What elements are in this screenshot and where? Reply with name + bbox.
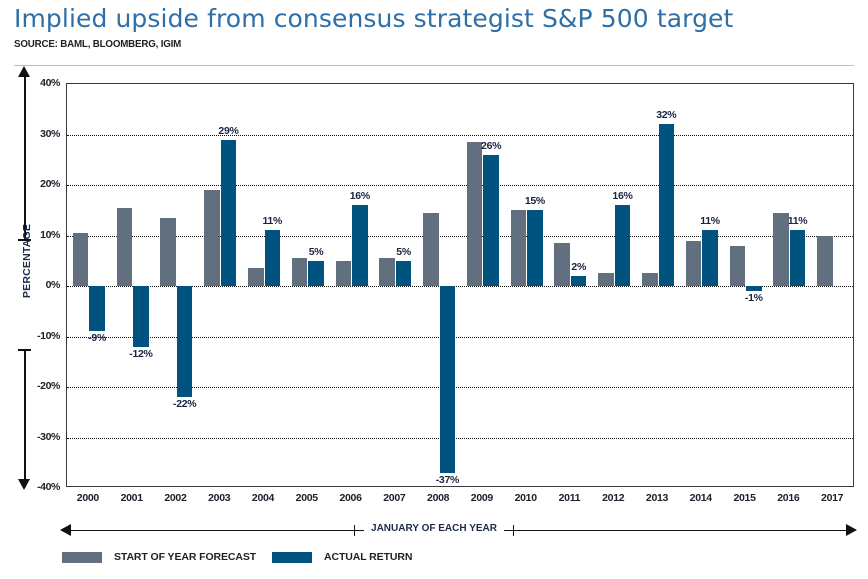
bar-value-label: 26%: [481, 140, 501, 152]
actual-bar: [615, 205, 631, 286]
legend-swatch-forecast: [62, 552, 102, 563]
x-axis-tick-label: 2006: [339, 492, 361, 504]
source-note: SOURCE: BAML, BLOOMBERG, IGIM: [14, 38, 795, 50]
chart-page: Implied upside from consensus strategist…: [0, 0, 868, 579]
x-axis-tick-labels: 2000200120022003200420052006200720082009…: [0, 492, 868, 512]
y-axis-tick-label: 30%: [14, 128, 60, 140]
forecast-bar: [467, 142, 483, 286]
x-axis-tick-label: 2017: [821, 492, 843, 504]
bar-value-label: -22%: [173, 398, 196, 410]
forecast-bar: [248, 268, 264, 286]
legend-item[interactable]: START OF YEAR FORECAST: [62, 551, 256, 563]
actual-bar: [440, 286, 456, 473]
bar-value-label: 5%: [396, 246, 411, 258]
forecast-bar: [730, 246, 746, 286]
forecast-bar: [379, 258, 395, 286]
bar-value-label: 11%: [700, 215, 720, 227]
actual-bar: [352, 205, 368, 286]
legend-label: ACTUAL RETURN: [324, 551, 412, 563]
x-axis-tick-label: 2002: [164, 492, 186, 504]
x-axis-tick-label: 2013: [646, 492, 668, 504]
y-axis-tick-label: -20%: [14, 380, 60, 392]
actual-bar: [702, 230, 718, 286]
bars-layer: -9%-12%-22%29%11%5%16%5%-37%26%15%2%16%3…: [67, 84, 853, 486]
x-axis-tick-label: 2010: [515, 492, 537, 504]
forecast-bar: [423, 213, 439, 286]
x-axis-tick-label: 2011: [559, 492, 581, 504]
forecast-bar: [554, 243, 570, 286]
actual-bar: [89, 286, 105, 331]
y-axis-tick-label: 40%: [14, 77, 60, 89]
x-axis-tick-label: 2001: [121, 492, 143, 504]
x-axis-tick-label: 2016: [777, 492, 799, 504]
actual-bar: [221, 140, 237, 286]
actual-bar: [571, 276, 587, 286]
x-axis-cap-left: [354, 525, 355, 536]
x-axis-tick-label: 2003: [208, 492, 230, 504]
actual-bar: [746, 286, 762, 291]
x-axis-tick-label: 2005: [296, 492, 318, 504]
x-axis-tick-label: 2000: [77, 492, 99, 504]
bar-value-label: -12%: [129, 348, 152, 360]
bar-value-label: -1%: [745, 292, 763, 304]
x-axis-tick-label: 2014: [690, 492, 712, 504]
y-axis-tick-label: 20%: [14, 178, 60, 190]
forecast-bar: [73, 233, 89, 286]
bar-value-label: 16%: [612, 190, 632, 202]
bar-value-label: 15%: [525, 195, 545, 207]
x-axis-title: JANUARY OF EACH YEAR: [364, 523, 504, 534]
x-axis-tick-label: 2009: [471, 492, 493, 504]
forecast-bar: [598, 273, 614, 286]
forecast-bar: [773, 213, 789, 286]
actual-bar: [265, 230, 281, 286]
forecast-bar: [642, 273, 658, 286]
bar-value-label: 16%: [350, 190, 370, 202]
x-axis-cap-right: [513, 525, 514, 536]
header-divider: [14, 65, 854, 66]
x-axis-tick-label: 2008: [427, 492, 449, 504]
forecast-bar: [204, 190, 220, 286]
bar-value-label: 11%: [788, 215, 808, 227]
forecast-bar: [117, 208, 133, 286]
forecast-bar: [817, 236, 833, 287]
y-axis-tick-label: 0%: [14, 279, 60, 291]
actual-bar: [177, 286, 193, 397]
forecast-bar: [160, 218, 176, 286]
x-axis-annotation: JANUARY OF EACH YEAR: [0, 520, 868, 542]
actual-bar: [133, 286, 149, 347]
y-axis-tick-label: 10%: [14, 229, 60, 241]
actual-bar: [527, 210, 543, 286]
forecast-bar: [292, 258, 308, 286]
x-axis-tick-label: 2012: [602, 492, 624, 504]
forecast-bar: [336, 261, 352, 286]
legend-swatch-actual: [272, 552, 312, 563]
bar-value-label: 29%: [218, 125, 238, 137]
actual-bar: [659, 124, 675, 286]
x-axis-arrow-right-icon: [846, 524, 857, 536]
forecast-bar: [511, 210, 527, 286]
bar-value-label: 32%: [656, 109, 676, 121]
legend-item[interactable]: ACTUAL RETURN: [272, 551, 412, 563]
y-axis-tick-label: -30%: [14, 431, 60, 443]
x-axis-tick-label: 2004: [252, 492, 274, 504]
actual-bar: [308, 261, 324, 286]
x-axis-tick-label: 2007: [383, 492, 405, 504]
bar-value-label: -37%: [436, 474, 459, 486]
plot-area: -9%-12%-22%29%11%5%16%5%-37%26%15%2%16%3…: [66, 83, 854, 487]
bar-value-label: -9%: [88, 332, 106, 344]
actual-bar: [790, 230, 806, 286]
page-title: Implied upside from consensus strategist…: [14, 4, 854, 34]
legend-label: START OF YEAR FORECAST: [114, 551, 256, 563]
bar-value-label: 5%: [309, 246, 324, 258]
chart-header: Implied upside from consensus strategist…: [14, 4, 854, 50]
bar-value-label: 2%: [571, 261, 586, 273]
y-axis-tick-label: -10%: [14, 330, 60, 342]
bar-value-label: 11%: [262, 215, 282, 227]
actual-bar: [483, 155, 499, 286]
x-axis-tick-label: 2015: [733, 492, 755, 504]
actual-bar: [396, 261, 412, 286]
forecast-bar: [686, 241, 702, 286]
